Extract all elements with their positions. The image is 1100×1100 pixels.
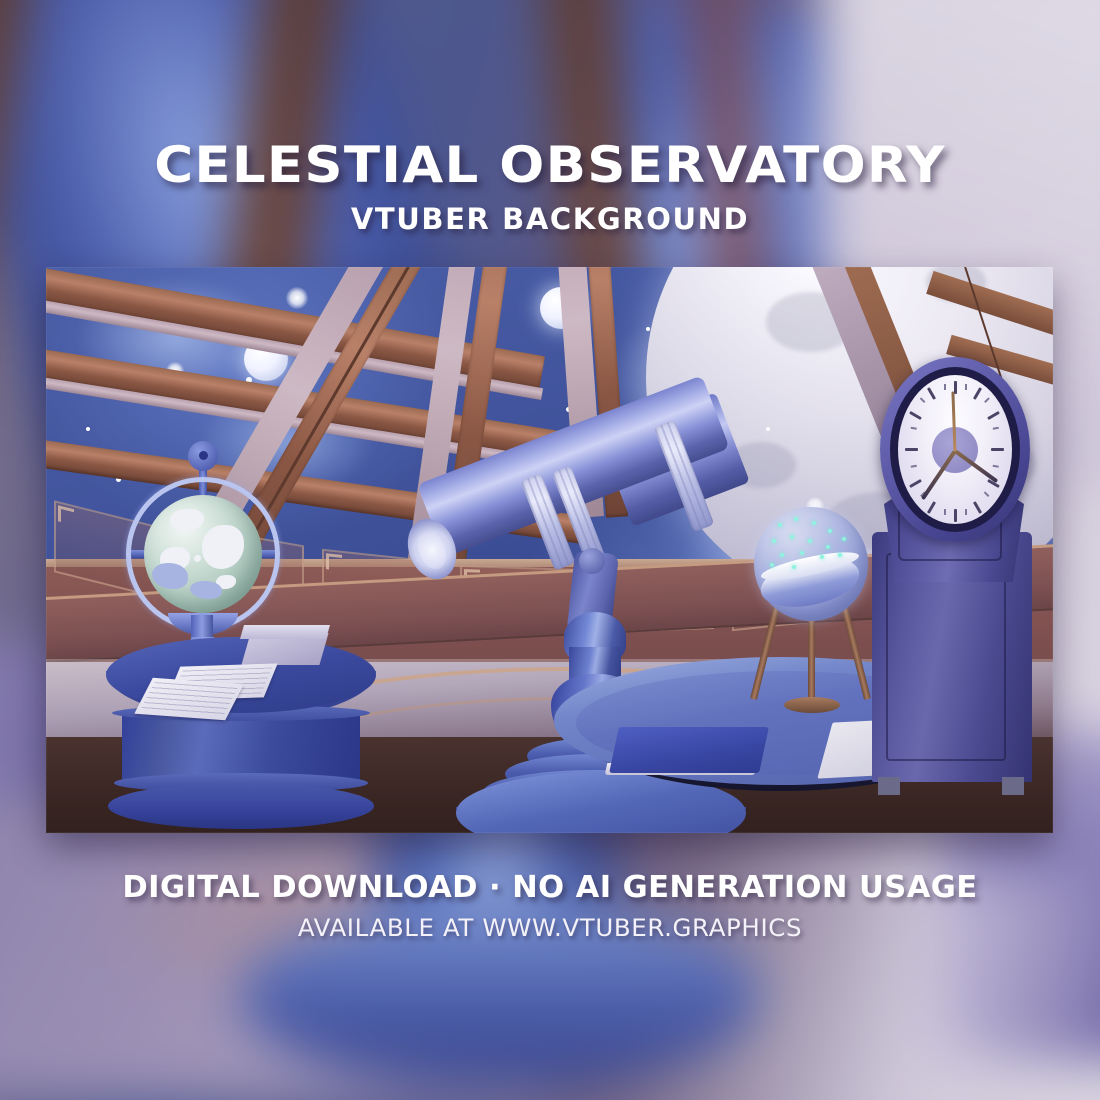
telescope-adjust-knob[interactable] xyxy=(579,548,605,574)
paper-sheet[interactable] xyxy=(134,678,243,720)
telescope[interactable] xyxy=(401,422,751,642)
clock-cabinet-panel xyxy=(886,553,1006,761)
clock-tick xyxy=(991,448,1004,451)
orrery-base xyxy=(784,697,840,713)
clock-tick xyxy=(905,448,918,451)
title-block: CELESTIAL OBSERVATORY VTUBER BACKGROUND xyxy=(0,136,1100,236)
footer-block: DIGITAL DOWNLOAD · NO AI GENERATION USAG… xyxy=(0,870,1100,942)
footer-website-text: AVAILABLE AT WWW.VTUBER.GRAPHICS xyxy=(0,914,1100,942)
storage-box-lid xyxy=(240,625,330,639)
clock-tick xyxy=(954,509,957,522)
page-subtitle: VTUBER BACKGROUND xyxy=(0,202,1100,236)
book[interactable] xyxy=(609,727,769,773)
globe-finial-dot xyxy=(199,451,208,460)
footer-license-text: DIGITAL DOWNLOAD · NO AI GENERATION USAG… xyxy=(0,870,1100,905)
artwork-card[interactable] xyxy=(46,267,1053,833)
observatory-scene xyxy=(46,267,1053,833)
pedestal-foot xyxy=(108,783,374,829)
grandfather-clock[interactable] xyxy=(856,357,1046,817)
clock-foot-left xyxy=(878,777,900,795)
pedestal-table[interactable] xyxy=(106,637,376,827)
page-title: CELESTIAL OBSERVATORY xyxy=(0,136,1100,194)
globe-meridian-ring xyxy=(126,477,280,631)
clock-foot-right xyxy=(1002,777,1024,795)
star-glow xyxy=(286,287,308,309)
